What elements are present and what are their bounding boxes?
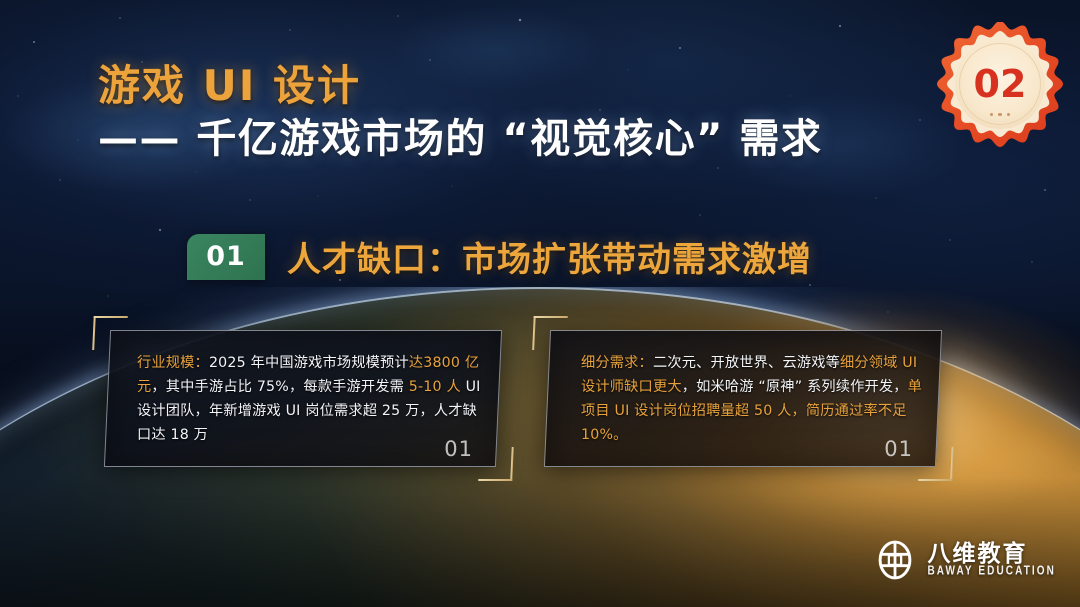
body-text: 2025 年中国游戏市场规模预计 (209, 355, 409, 371)
brand-logo: 八维教育 BAWAY EDUCATION (874, 539, 1056, 581)
section-number-badge: 01 (187, 234, 265, 280)
page-subtitle: —— 千亿游戏市场的 “视觉核心” 需求 (98, 115, 958, 163)
content-card-industry-scale: 行业规模：2025 年中国游戏市场规模预计达3800 亿元，其中手游占比 75%… (107, 330, 499, 467)
highlighted-text: 行业规模： (137, 355, 209, 371)
body-text: 二次元、开放世界、云游戏等 (653, 355, 840, 371)
highlighted-text: 细分需求： (581, 355, 653, 371)
logo-name-en: BAWAY EDUCATION (927, 566, 1056, 579)
body-text: ，如米哈游 “原神” 系列续作开发， (682, 379, 908, 395)
logo-name-cn: 八维教育 (927, 543, 1056, 566)
section-heading: 01 人才缺口：市场扩张带动需求激增 (187, 232, 812, 281)
slide-canvas: 02 游戏 UI 设计 —— 千亿游戏市场的 “视觉核心” 需求 01 人才缺口… (0, 0, 1080, 607)
globe-icon (874, 539, 916, 581)
section-title: 人才缺口：市场扩张带动需求激增 (287, 232, 812, 281)
highlighted-text: 5-10 人 (409, 379, 461, 395)
card-index-number: 01 (444, 437, 473, 461)
title-block: 游戏 UI 设计 —— 千亿游戏市场的 “视觉核心” 需求 (98, 62, 958, 163)
card-index-number: 01 (884, 437, 913, 461)
page-title: 游戏 UI 设计 (98, 62, 958, 109)
body-text: ，其中手游占比 75%，每款手游开发需 (151, 379, 408, 395)
card-body-text: 行业规模：2025 年中国游戏市场规模预计达3800 亿元，其中手游占比 75%… (137, 352, 481, 447)
content-card-segment-demand: 细分需求：二次元、开放世界、云游戏等细分领域 UI 设计师缺口更大，如米哈游 “… (547, 330, 939, 467)
logo-text: 八维教育 BAWAY EDUCATION (927, 543, 1056, 577)
card-body-text: 细分需求：二次元、开放世界、云游戏等细分领域 UI 设计师缺口更大，如米哈游 “… (581, 352, 923, 447)
